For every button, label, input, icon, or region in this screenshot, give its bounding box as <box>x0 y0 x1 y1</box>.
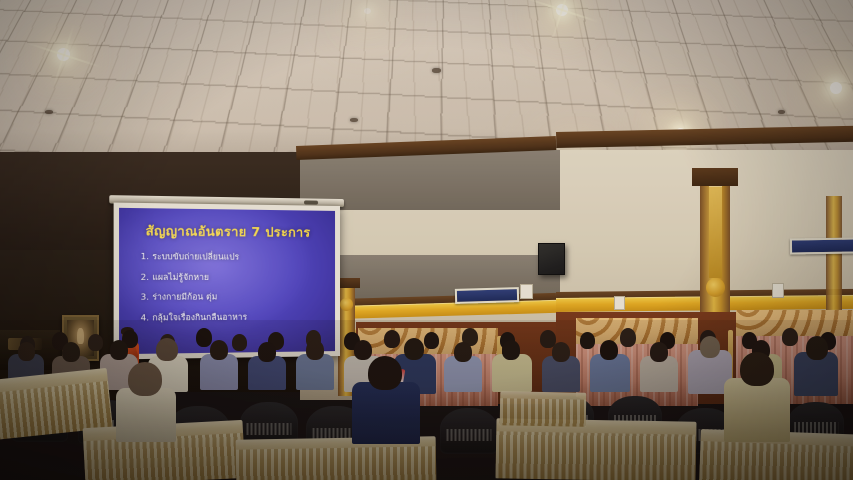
column-inlay <box>709 186 722 278</box>
wall-sign-left-text <box>457 289 517 302</box>
slide-list-item: 2.แผลไม่รู้จักหาย <box>141 270 329 284</box>
slide-title: สัญญาณอันตราย 7 ประการ <box>126 220 330 242</box>
audience-head <box>552 342 570 362</box>
audience-area <box>0 320 853 480</box>
audience-head <box>258 342 276 362</box>
audience-head <box>454 342 472 362</box>
audience-head <box>700 336 720 358</box>
chair <box>440 408 498 454</box>
audience-head <box>210 340 228 360</box>
chair-back-print <box>246 423 291 435</box>
ceiling-light-icon <box>364 8 371 14</box>
slide-list-item: 3.ร่างกายมีก้อน ตุ่ม <box>141 290 329 304</box>
audience-head-foreground <box>368 356 402 390</box>
banquet-table <box>500 391 587 426</box>
audience-head <box>110 340 128 360</box>
slide-item-number: 1. <box>141 251 149 261</box>
table-skirt <box>500 399 586 427</box>
screen-roller-knob-icon <box>304 200 318 204</box>
audience-head <box>384 330 400 348</box>
audience-head <box>782 328 798 346</box>
column-medallion-icon <box>706 278 725 297</box>
audience-head <box>502 340 520 360</box>
conference-hall-photo: สัญญาณอันตราย 7 ประการ 1.ระบบขับถ่ายเปลี… <box>0 0 853 480</box>
table-skirt <box>699 441 853 480</box>
chair-back-print <box>446 429 491 441</box>
audience-head <box>196 328 212 347</box>
audience-head <box>354 340 372 360</box>
audience-head <box>620 328 636 347</box>
wall-sign-left <box>455 287 519 304</box>
slide-item-number: 3. <box>141 291 149 301</box>
audience-head <box>650 342 668 362</box>
audience-torso-foreground <box>724 378 790 442</box>
ceiling-vent-icon <box>432 68 441 73</box>
wall-plate-icon <box>772 283 784 298</box>
ceiling-light-icon <box>830 82 842 94</box>
slide-item-text: ระบบขับถ่ายเปลี่ยนแปร <box>152 251 239 262</box>
wall-speaker-icon <box>538 243 565 275</box>
audience-head <box>232 334 247 351</box>
audience-torso-foreground <box>116 388 176 442</box>
slide-list-item: 1.ระบบขับถ่ายเปลี่ยนแปร <box>141 250 329 264</box>
audience-head <box>306 340 324 360</box>
audience-head <box>424 332 439 349</box>
audience-head <box>580 332 595 349</box>
column-capital <box>692 168 738 186</box>
audience-head-foreground <box>740 352 774 386</box>
ceiling-vent-icon <box>350 118 358 122</box>
ceiling-vent-icon <box>778 110 785 114</box>
audience-head-foreground <box>128 362 162 396</box>
audience-head <box>156 338 178 361</box>
banquet-table <box>495 418 696 480</box>
wall-sign-right <box>790 238 853 255</box>
slide-item-number: 2. <box>141 271 149 281</box>
audience-torso-foreground <box>352 382 420 444</box>
table-skirt <box>495 431 696 480</box>
slide-item-text: ร่างกายมีก้อน ตุ่ม <box>152 291 217 302</box>
audience-head <box>62 342 80 362</box>
ceiling-vent-icon <box>45 110 53 114</box>
wall-plate-icon <box>520 284 533 299</box>
wall-plate-icon <box>614 296 625 310</box>
slide-item-text: แผลไม่รู้จักหาย <box>152 271 209 281</box>
ceiling-light-icon <box>556 4 568 16</box>
ceiling-light-icon <box>57 48 70 61</box>
table-skirt <box>236 446 437 480</box>
audience-head <box>88 334 103 351</box>
slide-bullet-list: 1.ระบบขับถ่ายเปลี่ยนแปร 2.แผลไม่รู้จักหา… <box>126 250 330 325</box>
audience-head <box>806 336 828 360</box>
column-medallion-icon <box>340 298 353 311</box>
audience-head <box>18 342 35 361</box>
wall-sign-right-text <box>792 240 853 253</box>
audience-head <box>404 338 424 360</box>
audience-head <box>600 340 618 360</box>
